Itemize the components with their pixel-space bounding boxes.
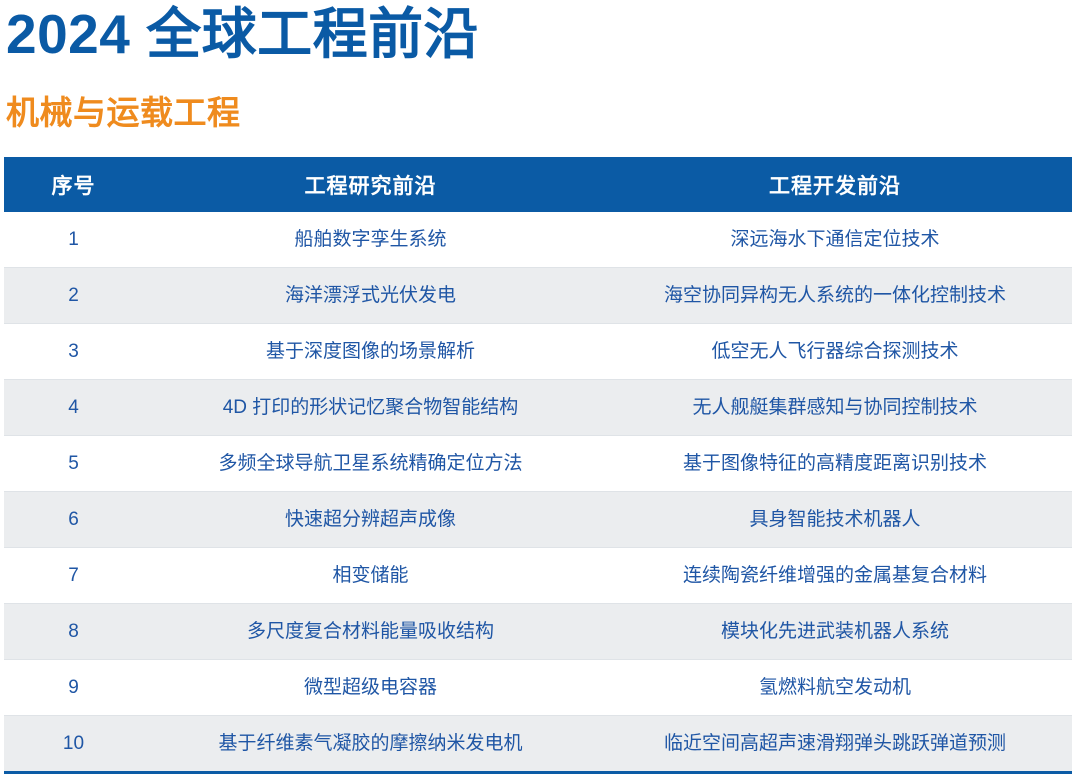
table-row: 3基于深度图像的场景解析低空无人飞行器综合探测技术 bbox=[4, 324, 1072, 380]
table-row: 2海洋漂浮式光伏发电海空协同异构无人系统的一体化控制技术 bbox=[4, 268, 1072, 324]
cell-research-front: 多频全球导航卫星系统精确定位方法 bbox=[143, 436, 598, 492]
cell-research-front: 相变储能 bbox=[143, 548, 598, 604]
table-body: 1船舶数字孪生系统深远海水下通信定位技术2海洋漂浮式光伏发电海空协同异构无人系统… bbox=[4, 212, 1072, 773]
cell-research-front: 海洋漂浮式光伏发电 bbox=[143, 268, 598, 324]
cell-index: 6 bbox=[4, 492, 143, 548]
cell-research-front: 快速超分辨超声成像 bbox=[143, 492, 598, 548]
cell-index: 2 bbox=[4, 268, 143, 324]
page-root: 2024 全球工程前沿 机械与运载工程 序号 工程研究前沿 工程开发前沿 1船舶… bbox=[0, 0, 1076, 777]
cell-index: 3 bbox=[4, 324, 143, 380]
cell-index: 7 bbox=[4, 548, 143, 604]
cell-index: 4 bbox=[4, 380, 143, 436]
cell-research-front: 基于纤维素气凝胶的摩擦纳米发电机 bbox=[143, 716, 598, 773]
cell-index: 5 bbox=[4, 436, 143, 492]
cell-development-front: 具身智能技术机器人 bbox=[598, 492, 1072, 548]
table-header-row: 序号 工程研究前沿 工程开发前沿 bbox=[4, 157, 1072, 212]
table-row: 1船舶数字孪生系统深远海水下通信定位技术 bbox=[4, 212, 1072, 268]
table-row: 9微型超级电容器氢燃料航空发动机 bbox=[4, 660, 1072, 716]
table-row: 6快速超分辨超声成像具身智能技术机器人 bbox=[4, 492, 1072, 548]
cell-index: 8 bbox=[4, 604, 143, 660]
cell-development-front: 海空协同异构无人系统的一体化控制技术 bbox=[598, 268, 1072, 324]
cell-research-front: 基于深度图像的场景解析 bbox=[143, 324, 598, 380]
table-row: 8多尺度复合材料能量吸收结构模块化先进武装机器人系统 bbox=[4, 604, 1072, 660]
section-subtitle: 机械与运载工程 bbox=[6, 92, 241, 134]
engineering-fronts-table: 序号 工程研究前沿 工程开发前沿 1船舶数字孪生系统深远海水下通信定位技术2海洋… bbox=[4, 157, 1072, 774]
cell-development-front: 临近空间高超声速滑翔弹头跳跃弹道预测 bbox=[598, 716, 1072, 773]
cell-development-front: 基于图像特征的高精度距离识别技术 bbox=[598, 436, 1072, 492]
cell-index: 9 bbox=[4, 660, 143, 716]
cell-research-front: 多尺度复合材料能量吸收结构 bbox=[143, 604, 598, 660]
table-row: 5多频全球导航卫星系统精确定位方法基于图像特征的高精度距离识别技术 bbox=[4, 436, 1072, 492]
cell-development-front: 连续陶瓷纤维增强的金属基复合材料 bbox=[598, 548, 1072, 604]
table-row: 44D 打印的形状记忆聚合物智能结构无人舰艇集群感知与协同控制技术 bbox=[4, 380, 1072, 436]
page-title: 2024 全球工程前沿 bbox=[6, 2, 479, 66]
column-header-development: 工程开发前沿 bbox=[598, 157, 1072, 212]
fronts-table-container: 序号 工程研究前沿 工程开发前沿 1船舶数字孪生系统深远海水下通信定位技术2海洋… bbox=[4, 157, 1072, 774]
cell-development-front: 低空无人飞行器综合探测技术 bbox=[598, 324, 1072, 380]
column-header-no: 序号 bbox=[4, 157, 143, 212]
column-header-research: 工程研究前沿 bbox=[143, 157, 598, 212]
cell-research-front: 4D 打印的形状记忆聚合物智能结构 bbox=[143, 380, 598, 436]
cell-development-front: 氢燃料航空发动机 bbox=[598, 660, 1072, 716]
cell-index: 10 bbox=[4, 716, 143, 773]
cell-research-front: 微型超级电容器 bbox=[143, 660, 598, 716]
table-row: 7相变储能连续陶瓷纤维增强的金属基复合材料 bbox=[4, 548, 1072, 604]
table-row: 10基于纤维素气凝胶的摩擦纳米发电机临近空间高超声速滑翔弹头跳跃弹道预测 bbox=[4, 716, 1072, 773]
cell-development-front: 模块化先进武装机器人系统 bbox=[598, 604, 1072, 660]
cell-development-front: 深远海水下通信定位技术 bbox=[598, 212, 1072, 268]
cell-research-front: 船舶数字孪生系统 bbox=[143, 212, 598, 268]
table-header: 序号 工程研究前沿 工程开发前沿 bbox=[4, 157, 1072, 212]
cell-index: 1 bbox=[4, 212, 143, 268]
cell-development-front: 无人舰艇集群感知与协同控制技术 bbox=[598, 380, 1072, 436]
